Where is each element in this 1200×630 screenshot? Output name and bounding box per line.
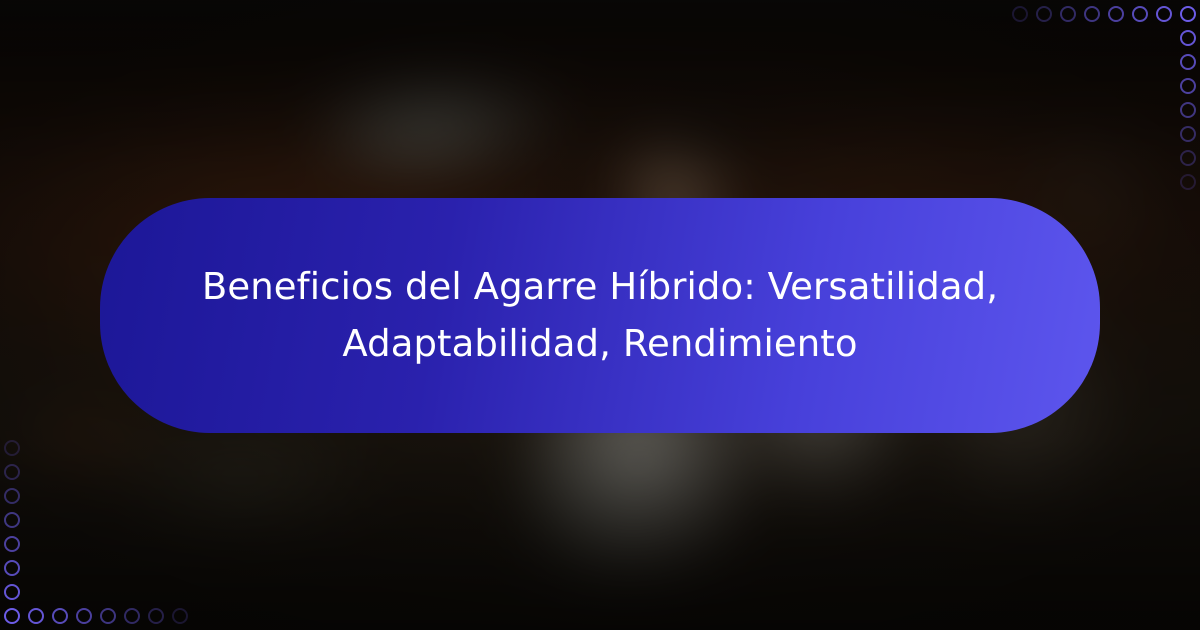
og-image-canvas: Beneficios del Agarre Híbrido: Versatili… — [0, 0, 1200, 630]
page-title: Beneficios del Agarre Híbrido: Versatili… — [170, 259, 1030, 371]
title-card: Beneficios del Agarre Híbrido: Versatili… — [100, 198, 1100, 433]
